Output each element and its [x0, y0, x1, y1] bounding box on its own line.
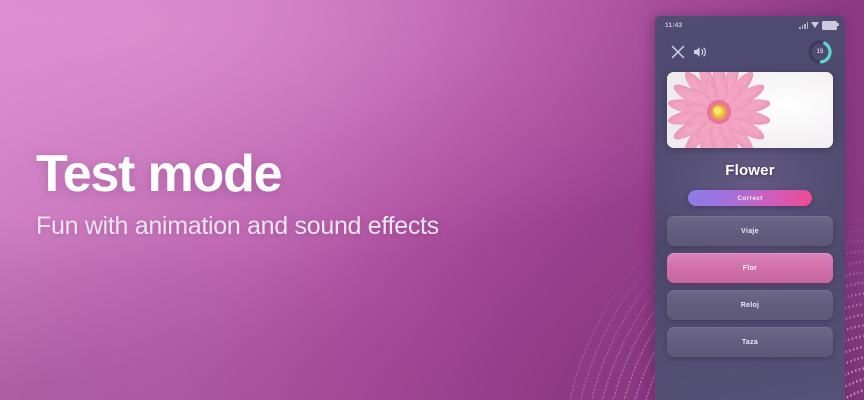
timer-ring: 15: [807, 39, 833, 65]
close-icon[interactable]: [667, 41, 689, 63]
marketing-copy: Test mode Fun with animation and sound e…: [36, 148, 596, 241]
page-subtitle: Fun with animation and sound effects: [36, 213, 596, 241]
correct-badge-wrap: Correct: [655, 190, 845, 206]
status-bar: 11:43: [655, 16, 845, 32]
promo-banner: Test mode Fun with animation and sound e…: [0, 0, 864, 400]
pink-gerbera-flower-photo: [667, 72, 833, 148]
answer-option-0[interactable]: Viaje: [667, 216, 833, 246]
page-title: Test mode: [36, 148, 596, 201]
question-image-card: [667, 72, 833, 148]
answer-options-list: Viaje Flor Reloj Taza: [667, 216, 833, 357]
answer-option-1[interactable]: Flor: [667, 253, 833, 283]
speaker-icon[interactable]: [689, 41, 711, 63]
phone-mockup: 11:43: [655, 16, 845, 400]
question-title: Flower: [655, 162, 845, 179]
correct-badge[interactable]: Correct: [688, 190, 812, 206]
answer-option-2[interactable]: Reloj: [667, 290, 833, 320]
answer-option-3[interactable]: Taza: [667, 327, 833, 357]
quiz-action-bar: 15: [655, 32, 845, 72]
status-bar-icons: [799, 21, 837, 30]
battery-icon: [822, 21, 837, 30]
signal-bars-icon: [799, 22, 808, 29]
wifi-icon: [811, 22, 819, 28]
timer-value: 15: [807, 39, 833, 65]
status-bar-time: 11:43: [665, 22, 682, 29]
